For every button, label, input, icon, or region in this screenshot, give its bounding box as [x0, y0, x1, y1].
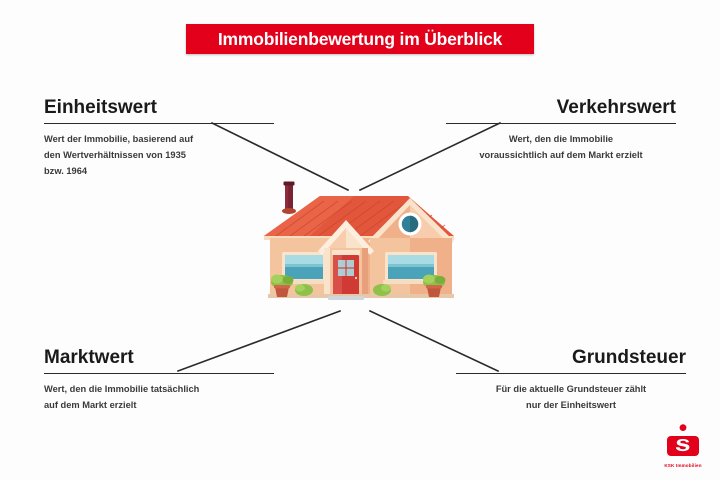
- callout-rule-einheitswert: [44, 123, 274, 124]
- callout-body-einheitswert: Wert der Immobilie, basierend auf den We…: [44, 131, 274, 180]
- logo-caption: KSK Immobilien: [655, 463, 711, 468]
- callout-rule-marktwert: [44, 373, 274, 374]
- chimney-icon: [282, 182, 296, 215]
- page-title-banner: Immobilienbewertung im Überblick: [186, 24, 534, 54]
- callout-body-verkehrswert: Wert, den die Immobilie voraussichtlich …: [446, 131, 676, 164]
- shrub-center-left-icon: [295, 284, 313, 296]
- callout-verkehrswert: Verkehrswert Wert, den die Immobilie vor…: [446, 98, 676, 163]
- callout-heading-marktwert: Marktwert: [44, 348, 274, 369]
- house-illustration: [258, 178, 464, 310]
- brand-logo: KSK Immobilien: [655, 423, 711, 473]
- callout-rule-verkehrswert: [446, 123, 676, 124]
- callout-body-marktwert: Wert, den die Immobilie tatsächlich auf …: [44, 381, 274, 414]
- callout-rule-grundsteuer: [456, 373, 686, 374]
- callout-grundsteuer: Grundsteuer Für die aktuelle Grundsteuer…: [456, 348, 686, 413]
- sparkassen-s-icon: [663, 423, 703, 457]
- page-title: Immobilienbewertung im Überblick: [218, 29, 502, 50]
- callout-heading-grundsteuer: Grundsteuer: [456, 348, 686, 369]
- callout-body-grundsteuer: Für die aktuelle Grundsteuer zählt nur d…: [456, 381, 686, 414]
- front-door-icon: [332, 250, 360, 296]
- foundation: [268, 294, 454, 300]
- callout-marktwert: Marktwert Wert, den die Immobilie tatsäc…: [44, 348, 274, 413]
- callout-einheitswert: Einheitswert Wert der Immobilie, basiere…: [44, 98, 274, 180]
- shrub-center-right-icon: [373, 284, 391, 296]
- infographic-canvas: Immobilienbewertung im Überblick Einheit…: [0, 0, 720, 480]
- callout-heading-einheitswert: Einheitswert: [44, 98, 274, 119]
- gable-round-window-icon: [399, 213, 422, 236]
- callout-heading-verkehrswert: Verkehrswert: [446, 98, 676, 119]
